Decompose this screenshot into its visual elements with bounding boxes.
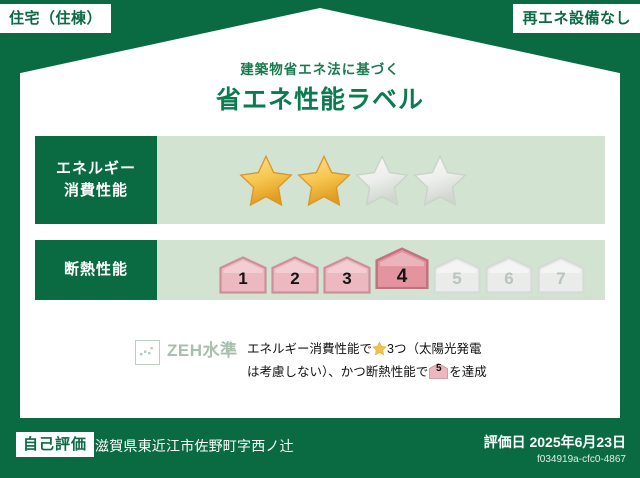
- insulation-level-number: 1: [238, 270, 247, 294]
- evaluation-date: 評価日 2025年6月23日: [484, 432, 626, 452]
- insulation-level-number: 7: [556, 270, 565, 294]
- inline-badge-number: 5: [429, 363, 448, 379]
- insulation-level-number: 6: [504, 270, 513, 294]
- star-empty-icon: [413, 153, 467, 207]
- building-type-tag: 住宅（住棟）: [0, 4, 111, 33]
- insulation-performance-row: 断熱性能 1234567: [35, 240, 605, 300]
- insulation-level-badge: 1: [219, 256, 267, 294]
- insulation-level-badge: 7: [537, 256, 585, 294]
- star-filled-icon: [239, 153, 293, 207]
- insulation-label-line1: 断熱性能: [64, 259, 128, 281]
- renewable-equipment-tag: 再エネ設備なし: [513, 4, 640, 33]
- self-evaluation-tag: 自己評価: [16, 432, 94, 457]
- insulation-level-badge: 2: [271, 256, 319, 294]
- energy-performance-label: 住宅（住棟） 再エネ設備なし 建築物省エネ法に基づく 省エネ性能ラベル エネルギ…: [0, 0, 640, 478]
- zeh-criteria-note: エネルギー消費性能で3つ（太陽光発電 は考慮しない）、かつ断熱性能で5を達成: [247, 338, 547, 384]
- insulation-level-scale: 1234567: [219, 247, 585, 294]
- note-line2-pre: は考慮しない）、かつ断熱性能で: [247, 365, 428, 379]
- star-rating: [239, 153, 467, 207]
- evaluation-id: f034919a-cfc0-4867: [537, 453, 626, 467]
- energy-label-line2: 消費性能: [64, 180, 128, 202]
- insulation-level-number: 4: [397, 267, 408, 294]
- insulation-level-number: 3: [342, 270, 351, 294]
- star-filled-icon: [297, 153, 351, 207]
- inline-star-icon: [372, 341, 387, 356]
- zeh-standard-label: ZEH水準: [167, 337, 238, 365]
- note-line2-post: を達成: [449, 365, 487, 379]
- insulation-level-badge-current: 4: [375, 247, 429, 294]
- insulation-performance-value: 1234567: [157, 240, 605, 300]
- insulation-level-badge: 3: [323, 256, 371, 294]
- insulation-level-badge: 6: [485, 256, 533, 294]
- zeh-standard-block: ZEH水準: [135, 337, 238, 365]
- zeh-checkbox-icon: [135, 340, 160, 365]
- energy-performance-value: [157, 136, 605, 224]
- insulation-level-number: 5: [452, 270, 461, 294]
- insulation-performance-label: 断熱性能: [35, 240, 157, 300]
- insulation-level-number: 2: [290, 270, 299, 294]
- note-line1-post: 3つ（太陽光発電: [387, 342, 481, 356]
- energy-performance-row: エネルギー 消費性能: [35, 136, 605, 224]
- energy-label-line1: エネルギー: [56, 158, 136, 180]
- label-title: 省エネ性能ラベル: [0, 80, 640, 116]
- energy-performance-label: エネルギー 消費性能: [35, 136, 157, 224]
- insulation-level-badge: 5: [433, 256, 481, 294]
- label-subtitle: 建築物省エネ法に基づく: [0, 58, 640, 78]
- inline-insulation-badge: 5: [429, 363, 448, 379]
- note-line1-pre: エネルギー消費性能で: [247, 342, 372, 356]
- property-address: 滋賀県東近江市佐野町字西ノ辻: [95, 435, 294, 457]
- star-empty-icon: [355, 153, 409, 207]
